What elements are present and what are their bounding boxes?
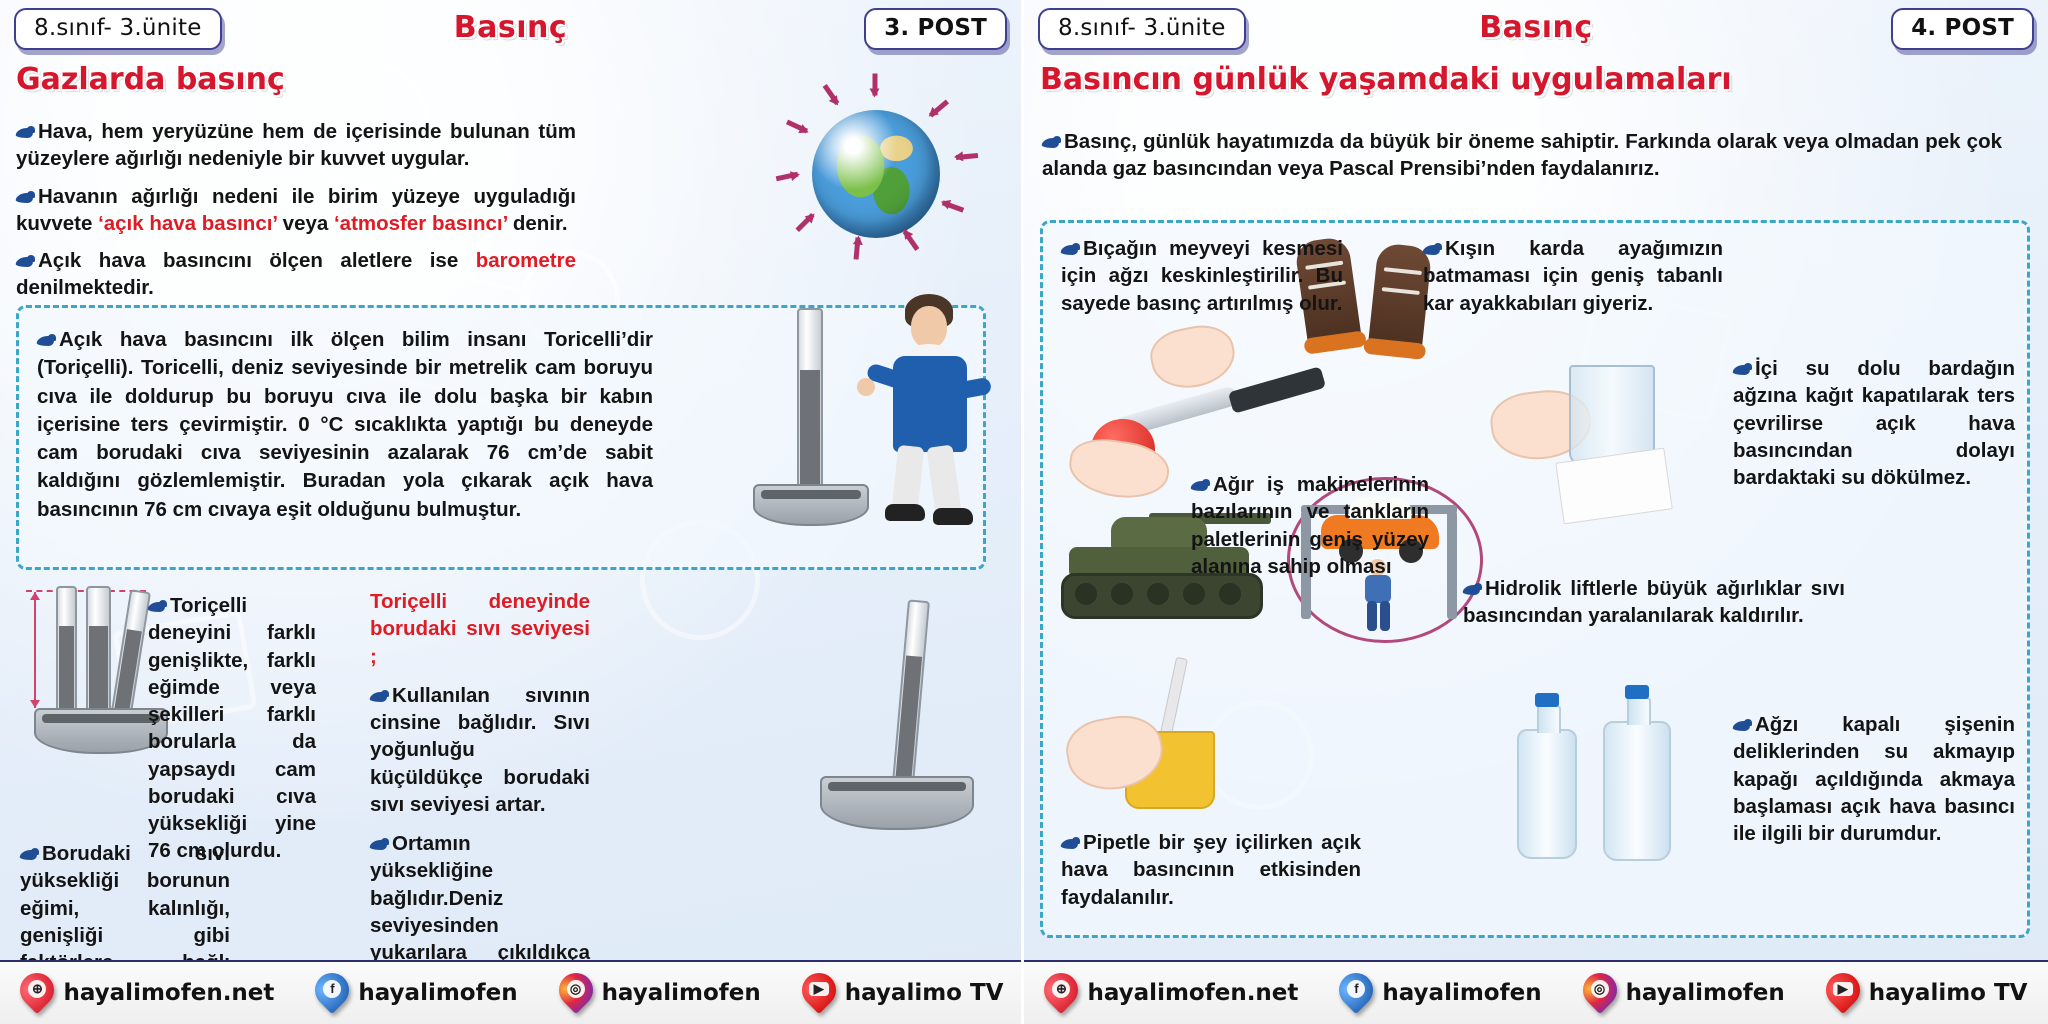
footer-item-youtube[interactable]: ▶ hayalimo TV <box>1826 973 2028 1013</box>
toricelli-levels-title: Toriçelli deneyinde borudaki sıvı seviye… <box>370 588 590 670</box>
toricelli-levels-item-1: Kullanılan sıvının cinsine bağlıdır. Sıv… <box>370 682 590 818</box>
item-straw-text: Pipetle bir şey içilirken açık hava bası… <box>1061 829 1361 911</box>
paragraph-1: Hava, hem yeryüzüne hem de içerisinde bu… <box>16 118 576 173</box>
instagram-pin-icon: ◎ <box>559 973 593 1013</box>
youtube-pin-icon: ▶ <box>1826 973 1860 1013</box>
bullet-icon <box>1463 584 1483 596</box>
paragraph-3: Açık hava basıncını ölçen aletlere ise b… <box>16 247 576 302</box>
bullet-icon <box>1733 364 1753 376</box>
bullet-icon <box>1423 244 1443 256</box>
item-knife-text: Bıçağın meyveyi kesmesi için ağzı keskin… <box>1061 235 1343 317</box>
section-title-right: Basıncın günlük yaşamdaki uygulamaları <box>1040 62 2048 97</box>
post-tag-left: 3. POST <box>864 8 1007 50</box>
paragraph-2: Havanın ağırlığı nedeni ile birim yüzeye… <box>16 183 576 238</box>
plastic-bottles-with-holes-illustration <box>1483 675 1733 885</box>
right-panel: 8.sınıf- 3.ünite Basınç 4. POST Basıncın… <box>1024 0 2048 1024</box>
post-tag-right: 4. POST <box>1891 8 2034 50</box>
left-panel: 8.sınıf- 3.ünite Basınç 3. POST Gazlarda… <box>0 0 1024 1024</box>
footer-item-facebook[interactable]: f hayalimofen <box>1339 973 1541 1013</box>
left-header: 8.sınıf- 3.ünite Basınç 3. POST <box>0 0 1021 58</box>
hand-icon <box>1146 319 1241 395</box>
bullet-icon <box>16 256 36 268</box>
bullet-icon <box>1191 480 1211 492</box>
bottle-icon <box>1517 729 1577 859</box>
item-glass-text: İçi su dolu bardağın ağzına kağıt kapatı… <box>1733 355 2015 491</box>
bottle-icon <box>1603 721 1671 861</box>
right-intro: Basınç, günlük hayatımızda da büyük bir … <box>1042 128 2002 183</box>
bullet-icon <box>16 127 36 139</box>
bullet-icon <box>1042 137 1062 149</box>
intro-text: Basınç, günlük hayatımızda da büyük bir … <box>1042 128 2002 183</box>
footer-item-youtube[interactable]: ▶ hayalimo TV <box>802 973 1004 1013</box>
right-header: 8.sınıf- 3.ünite Basınç 4. POST <box>1024 0 2048 58</box>
bullet-icon <box>370 839 390 851</box>
youtube-pin-icon: ▶ <box>802 973 836 1013</box>
bullet-icon <box>1061 838 1081 850</box>
daily-life-applications-box: Bıçağın meyveyi kesmesi için ağzı keskin… <box>1040 220 2030 938</box>
web-pin-icon: ⊕ <box>1044 973 1078 1013</box>
toricelli-info-box: Açık hava basıncını ilk ölçen bilim insa… <box>16 305 986 570</box>
left-column-right-text: Toriçelli deneyinde borudaki sıvı seviye… <box>370 588 590 1024</box>
web-pin-icon: ⊕ <box>20 973 54 1013</box>
section-title-left: Gazlarda basınç <box>16 62 1021 97</box>
footer-left: ⊕ hayalimofen.net f hayalimofen ◎ hayali… <box>0 960 1024 1024</box>
tilted-tube-in-dish-illustration <box>790 600 1000 850</box>
toricelli-tube-and-scientist-illustration <box>719 288 1019 568</box>
left-column-middle-text: Toriçelli deneyini farklı genişlikte, fa… <box>148 592 316 865</box>
hand-holding-glass-with-paper-illustration <box>1483 343 1733 523</box>
bullet-icon <box>148 601 168 613</box>
footer-item-facebook[interactable]: f hayalimofen <box>315 973 517 1013</box>
item-tank-text: Ağır iş makinelerinin bazılarının ve tan… <box>1191 471 1429 580</box>
toricelli-box-text: Açık hava basıncını ilk ölçen bilim insa… <box>37 326 653 524</box>
glass-tube-icon <box>797 308 823 492</box>
item-lift-text: Hidrolik liftlerle büyük ağırlıklar sıvı… <box>1463 575 1845 630</box>
bullet-icon <box>370 691 390 703</box>
infographic-stage: 8.sınıf- 3.ünite Basınç 3. POST Gazlarda… <box>0 0 2048 1024</box>
item-snowboot-text: Kışın karda ayağımızın batmaması için ge… <box>1423 235 1723 317</box>
scientist-figure-icon <box>849 294 1009 534</box>
facebook-pin-icon: f <box>315 973 349 1013</box>
earth-with-pressure-arrows-illustration <box>760 80 1000 265</box>
left-intro-paragraphs: Hava, hem yeryüzüne hem de içerisinde bu… <box>16 118 576 302</box>
bullet-icon <box>16 192 36 204</box>
footer-right: ⊕ hayalimofen.net f hayalimofen ◎ hayali… <box>1024 960 2048 1024</box>
bullet-icon <box>20 849 40 861</box>
toricelli-variations-text: Toriçelli deneyini farklı genişlikte, fa… <box>148 592 316 865</box>
footer-item-web[interactable]: ⊕ hayalimofen.net <box>1044 973 1298 1013</box>
hand-with-straw-in-cup-illustration <box>1061 653 1291 833</box>
footer-item-instagram[interactable]: ◎ hayalimofen <box>559 973 761 1013</box>
footer-item-web[interactable]: ⊕ hayalimofen.net <box>20 973 274 1013</box>
item-bottle-text: Ağzı kapalı şişenin deliklerinden su akm… <box>1733 711 2015 847</box>
instagram-pin-icon: ◎ <box>1583 973 1617 1013</box>
earth-icon <box>812 110 940 238</box>
bullet-icon <box>1061 244 1081 256</box>
facebook-pin-icon: f <box>1339 973 1373 1013</box>
bullet-icon <box>1733 720 1753 732</box>
footer-item-instagram[interactable]: ◎ hayalimofen <box>1583 973 1785 1013</box>
bullet-icon <box>37 335 57 347</box>
